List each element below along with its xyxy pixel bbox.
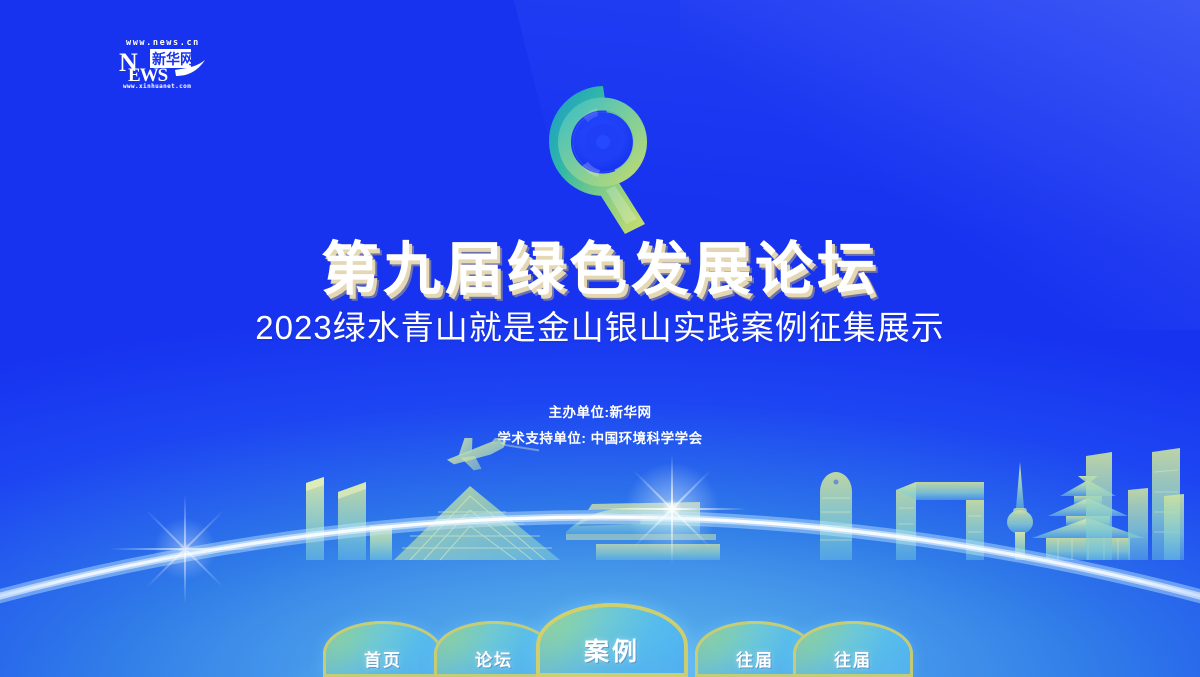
skyline-right-towers bbox=[1080, 438, 1200, 578]
banner-stage: www.news.cn N EWS 新华网 www.xinhuanet.com bbox=[0, 0, 1200, 677]
city-skyline-illustration bbox=[0, 438, 1200, 578]
water-cube bbox=[394, 486, 560, 560]
tiananmen-gate bbox=[596, 544, 720, 560]
logo-wordmark-icon: N EWS 新华网 bbox=[119, 47, 209, 87]
svg-text:新华网: 新华网 bbox=[152, 51, 194, 67]
nav-tab-label: 首页 bbox=[364, 646, 402, 677]
nav-tab-label: 案例 bbox=[584, 632, 640, 677]
bottom-nav: 首页 论坛 案例 往届 往届 bbox=[0, 597, 1200, 677]
nav-tab-past-2[interactable]: 往届 bbox=[793, 621, 913, 677]
tv-tower bbox=[1007, 462, 1033, 560]
skyscraper-right-3 bbox=[1128, 488, 1148, 560]
airplane bbox=[443, 438, 540, 475]
nine-spiral-emblem bbox=[528, 78, 678, 238]
high-speed-train bbox=[566, 502, 716, 540]
page-title: 第九届绿色发展论坛 bbox=[0, 222, 1200, 306]
logo-bottom-url: www.xinhuanet.com bbox=[123, 83, 191, 90]
nav-tab-label: 往届 bbox=[736, 646, 774, 677]
skyscraper-right-4 bbox=[1164, 494, 1184, 560]
tower-block bbox=[338, 482, 366, 560]
nav-tab-cases[interactable]: 案例 bbox=[536, 603, 688, 677]
xinhuanet-logo[interactable]: www.news.cn N EWS 新华网 www.xinhuanet.com bbox=[119, 38, 209, 93]
skyscraper-left bbox=[306, 477, 324, 560]
nav-tab-label: 往届 bbox=[834, 646, 872, 677]
nav-tab-label: 论坛 bbox=[475, 646, 513, 677]
page-subtitle: 2023绿水青山就是金山银山实践案例征集展示 bbox=[0, 301, 1200, 349]
nav-tab-home[interactable]: 首页 bbox=[323, 621, 443, 677]
china-zun-tower bbox=[820, 472, 852, 560]
skyscraper-right-2 bbox=[1086, 452, 1112, 560]
cctv-headquarters bbox=[896, 482, 984, 560]
organizer-line: 主办单位:新华网 bbox=[0, 400, 1200, 426]
